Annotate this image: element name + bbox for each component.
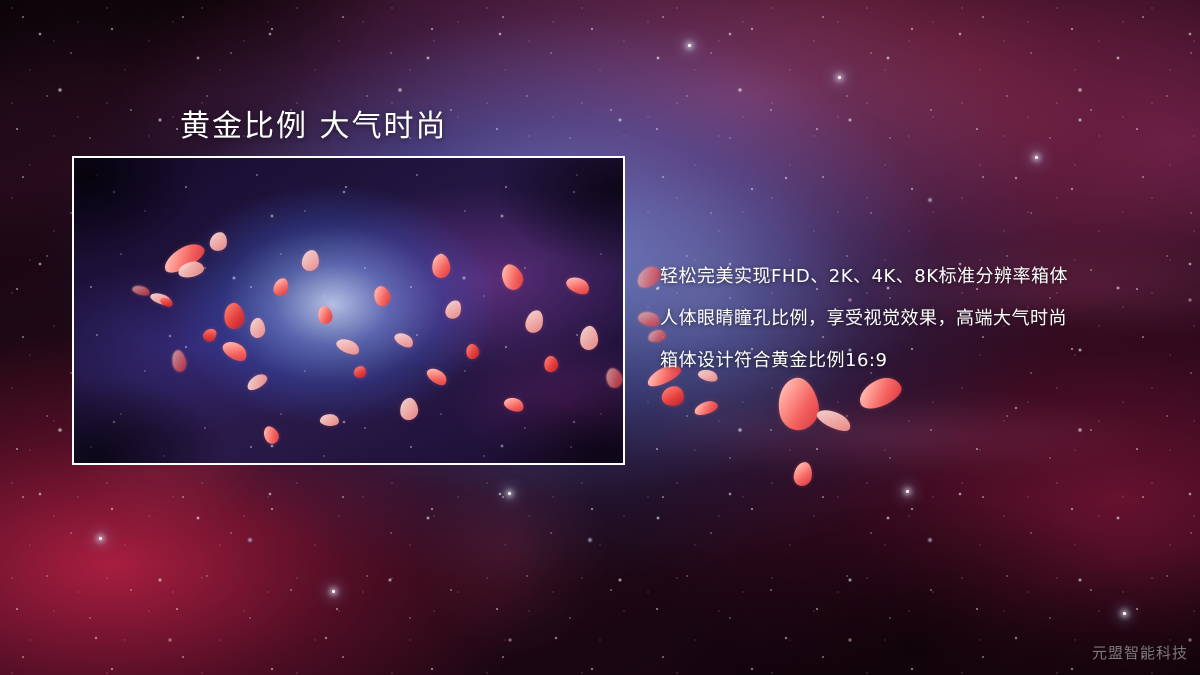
watermark-text: 元盟智能科技	[1092, 642, 1188, 663]
preview-image-frame	[72, 156, 625, 465]
page-title: 黄金比例 大气时尚	[180, 101, 448, 145]
bright-star	[332, 590, 335, 593]
description-line: 人体眼睛瞳孔比例，享受视觉效果，高端大气时尚	[660, 298, 1160, 340]
bright-star	[906, 490, 909, 493]
preview-vignette	[74, 158, 623, 463]
bright-star	[838, 76, 841, 79]
bright-star	[688, 44, 691, 47]
bright-star	[1035, 156, 1038, 159]
bright-star	[508, 492, 511, 495]
bright-star	[99, 537, 102, 540]
description-line: 箱体设计符合黄金比例16:9	[660, 340, 1160, 382]
slide-canvas: 黄金比例 大气时尚 轻松完美实现FHD、2K、4K、8K标准分辨率箱体 人体眼睛…	[0, 0, 1200, 675]
bright-star	[1123, 612, 1126, 615]
description-line: 轻松完美实现FHD、2K、4K、8K标准分辨率箱体	[660, 256, 1160, 298]
description-block: 轻松完美实现FHD、2K、4K、8K标准分辨率箱体 人体眼睛瞳孔比例，享受视觉效…	[660, 256, 1160, 382]
